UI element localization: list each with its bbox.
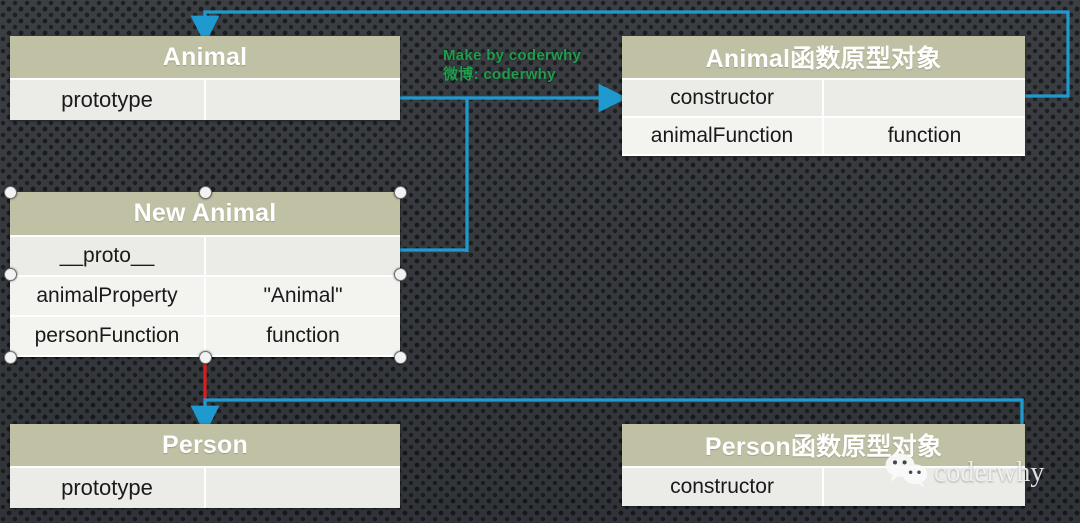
node-animal-prototype-object[interactable]: Animal函数原型对象 constructor animalFunction … <box>622 36 1025 156</box>
cell-key: __proto__ <box>10 237 206 275</box>
cell-key: animalFunction <box>622 118 824 154</box>
node-animal-prototype-object-title: Animal函数原型对象 <box>622 36 1025 78</box>
cell-key: prototype <box>10 80 206 120</box>
cell-key: prototype <box>10 468 206 508</box>
node-person-title: Person <box>10 424 400 466</box>
cell-value <box>824 80 1025 116</box>
resize-handle-bottom-right[interactable] <box>394 351 407 364</box>
resize-handle-bottom-left[interactable] <box>4 351 17 364</box>
cell-key: personFunction <box>10 317 206 355</box>
cell-key: constructor <box>622 468 824 506</box>
node-animal[interactable]: Animal prototype <box>10 36 400 120</box>
cell-value <box>206 237 400 275</box>
cell-value <box>206 80 400 120</box>
resize-handle-top-left[interactable] <box>4 186 17 199</box>
resize-handle-middle-left[interactable] <box>4 268 17 281</box>
table-row[interactable]: constructor <box>622 78 1025 116</box>
table-row[interactable]: personFunction function <box>10 315 400 355</box>
table-row[interactable]: prototype <box>10 466 400 508</box>
cell-value: "Animal" <box>206 277 400 315</box>
wechat-icon <box>884 452 930 493</box>
table-row[interactable]: prototype <box>10 78 400 120</box>
resize-handle-top-right[interactable] <box>394 186 407 199</box>
resize-handle-middle-right[interactable] <box>394 268 407 281</box>
cell-value: function <box>824 118 1025 154</box>
table-row[interactable]: __proto__ <box>10 235 400 275</box>
table-row[interactable]: animalProperty "Animal" <box>10 275 400 315</box>
cell-key: constructor <box>622 80 824 116</box>
author-watermark-text: Make by coderwhy 微博: coderwhy <box>443 46 581 84</box>
node-animal-title: Animal <box>10 36 400 78</box>
resize-handle-top-center[interactable] <box>199 186 212 199</box>
cell-value <box>206 468 400 508</box>
cell-value: function <box>206 317 400 355</box>
wechat-watermark: coderwhy <box>884 452 1044 493</box>
resize-handle-bottom-center[interactable] <box>199 351 212 364</box>
wechat-watermark-label: coderwhy <box>934 457 1044 489</box>
diagram-canvas: Animal prototype Animal函数原型对象 constructo… <box>0 0 1080 523</box>
cell-key: animalProperty <box>10 277 206 315</box>
node-person[interactable]: Person prototype <box>10 424 400 508</box>
table-row[interactable]: animalFunction function <box>622 116 1025 154</box>
node-new-animal[interactable]: New Animal __proto__ animalProperty "Ani… <box>10 192 400 357</box>
